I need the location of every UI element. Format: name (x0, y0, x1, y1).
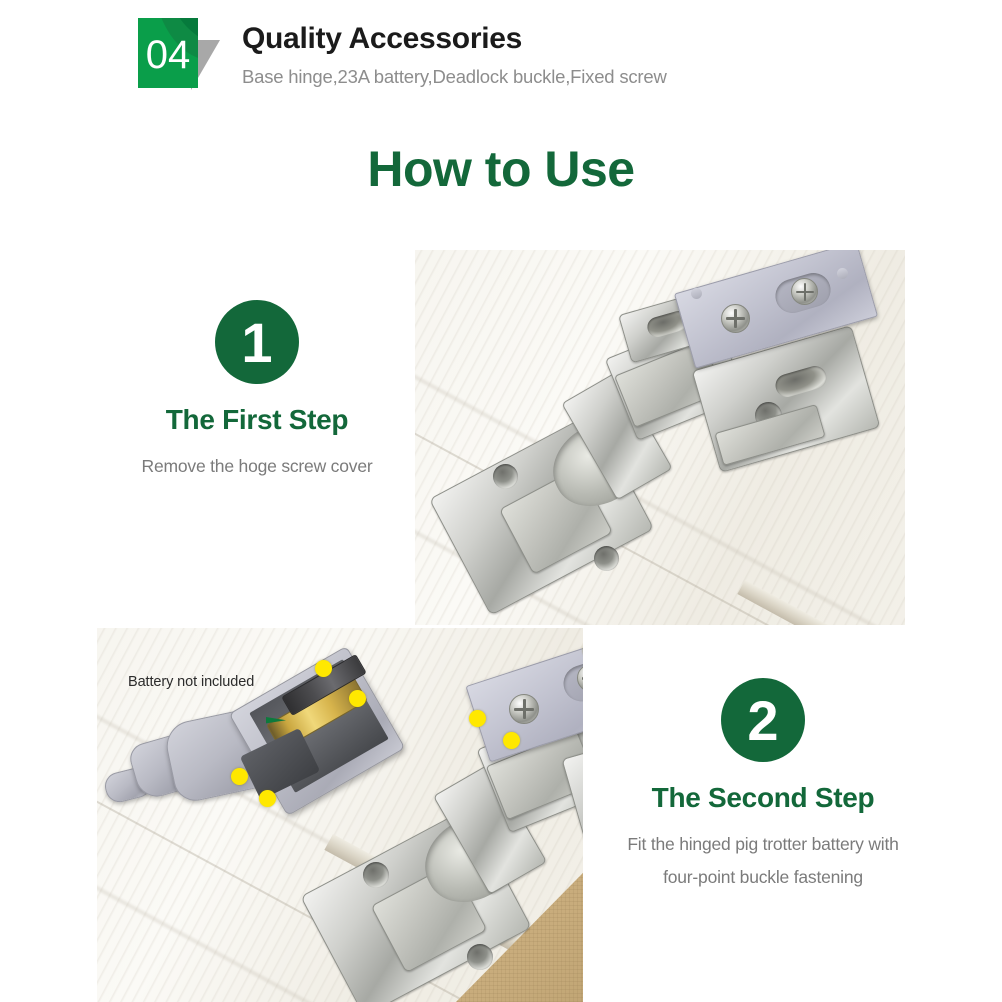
section-number-badge: 04 (138, 18, 242, 90)
badge-number-label: 04 (138, 18, 198, 88)
header-subtitle: Base hinge,23A battery,Deadlock buckle,F… (242, 66, 667, 88)
header-title: Quality Accessories (242, 22, 522, 56)
step-1-number-label: 1 (215, 300, 299, 384)
hinge-assembly (445, 260, 875, 590)
hinge-screw-hole (594, 546, 619, 571)
step-2-description: Fit the hinged pig trotter battery with … (598, 828, 928, 894)
step-1-block: 1 The First Step Remove the hoge screw c… (112, 300, 402, 483)
step-2-block: 2 The Second Step Fit the hinged pig tro… (598, 678, 928, 894)
step-2-description-line-1: Fit the hinged pig trotter battery with (598, 828, 928, 861)
buckle-point-marker (503, 732, 520, 749)
step-2-number-circle: 2 (721, 678, 805, 762)
buckle-point-marker (349, 690, 366, 707)
photo-step-2-battery: Battery not included (97, 628, 583, 1002)
product-instruction-page: 04 Quality Accessories Base hinge,23A ba… (0, 0, 1002, 1002)
photo-step-1-hinge (415, 250, 905, 625)
page-title: How to Use (0, 140, 1002, 198)
cover-plate-pin (691, 288, 702, 299)
step-1-heading: The First Step (112, 404, 402, 436)
green-arrow-right-icon (232, 712, 286, 722)
step-1-description: Remove the hoge screw cover (112, 450, 402, 483)
buckle-point-marker (259, 790, 276, 807)
step-2-number-label: 2 (721, 678, 805, 762)
buckle-point-marker (231, 768, 248, 785)
header-section: 04 Quality Accessories Base hinge,23A ba… (138, 18, 838, 100)
cover-plate-screw (509, 694, 539, 724)
step-2-description-line-2: four-point buckle fastening (598, 861, 928, 894)
hinge-screw-hole (493, 464, 518, 489)
cover-plate-screw (791, 278, 818, 305)
hinge-screw-hole (363, 862, 389, 888)
battery-not-included-label: Battery not included (128, 674, 254, 690)
hinge-screw-hole (467, 944, 493, 970)
buckle-point-marker (469, 710, 486, 727)
cover-plate-pin (837, 268, 848, 279)
cover-plate-screw (721, 304, 750, 333)
buckle-point-marker (315, 660, 332, 677)
step-2-heading: The Second Step (598, 782, 928, 814)
step-1-number-circle: 1 (215, 300, 299, 384)
